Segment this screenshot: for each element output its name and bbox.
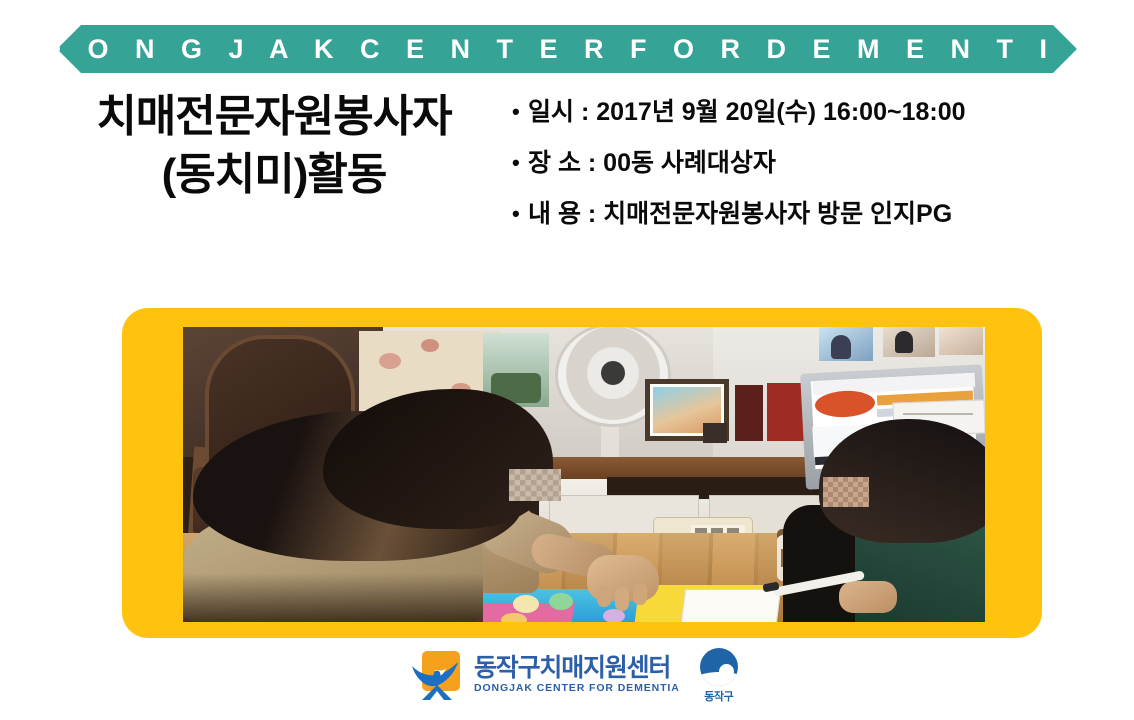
district-emblem: 동작구 bbox=[696, 648, 742, 704]
info-item-place-text: 장 소 : 00동 사례대상자 bbox=[528, 151, 776, 176]
bullet-icon: • bbox=[512, 202, 528, 225]
logo-figure-icon bbox=[410, 650, 464, 702]
photo-picture-frame bbox=[735, 385, 763, 441]
info-item-content: • 내 용 : 치매전문자원봉사자 방문 인지PG bbox=[512, 202, 1102, 227]
photo-elder-finger bbox=[633, 583, 647, 605]
title-line-2: (동치미)활동 bbox=[44, 146, 504, 204]
header-banner: D O N G J A K C E N T E R F O R D E M E … bbox=[57, 25, 1077, 73]
bullet-icon: • bbox=[512, 100, 528, 123]
activity-photo bbox=[183, 327, 985, 622]
emblem-circle-icon bbox=[700, 648, 738, 686]
photo-elder-finger bbox=[597, 585, 611, 607]
info-item-date-text: 일시 : 2017년 9월 20일(수) 16:00~18:00 bbox=[528, 100, 966, 125]
photo-fan-hub bbox=[601, 361, 625, 385]
photo-face-mosaic bbox=[509, 469, 561, 501]
logo-english-name: DONGJAK CENTER FOR DEMENTIA bbox=[474, 681, 680, 697]
emblem-label: 동작구 bbox=[704, 688, 733, 704]
photo-activity-worksheet bbox=[681, 589, 781, 622]
logo-text-block: 동작구치매지원센터 DONGJAK CENTER FOR DEMENTIA bbox=[474, 655, 680, 697]
emblem-wave bbox=[700, 672, 738, 686]
poster-root: D O N G J A K C E N T E R F O R D E M E … bbox=[0, 0, 1134, 720]
event-info-list: • 일시 : 2017년 9월 20일(수) 16:00~18:00 • 장 소… bbox=[512, 100, 1102, 253]
photo-worksheet-icon bbox=[501, 613, 527, 622]
photo-face-mosaic bbox=[823, 477, 869, 507]
photo-participant-hand bbox=[839, 581, 897, 613]
banner-title: D O N G J A K C E N T E R F O R D E M E … bbox=[32, 36, 1101, 63]
info-item-content-text: 내 용 : 치매전문자원봉사자 방문 인지PG bbox=[528, 202, 952, 227]
photo-fabric-flower bbox=[379, 353, 401, 369]
photo-elder-finger bbox=[615, 587, 629, 611]
bullet-icon: • bbox=[512, 151, 528, 174]
footer-logo: 동작구치매지원센터 DONGJAK CENTER FOR DEMENTIA 동작… bbox=[410, 645, 720, 707]
photo-wall-picture-figure bbox=[831, 335, 851, 359]
logo-korean-name: 동작구치매지원센터 bbox=[474, 655, 680, 681]
photo-frame bbox=[122, 308, 1042, 638]
info-item-date: • 일시 : 2017년 9월 20일(수) 16:00~18:00 bbox=[512, 100, 1102, 125]
photo-remote-control bbox=[703, 423, 727, 443]
title-line-1: 치매전문자원봉사자 bbox=[44, 88, 504, 146]
photo-wall-picture bbox=[939, 327, 983, 355]
banner-shape: D O N G J A K C E N T E R F O R D E M E … bbox=[57, 25, 1077, 73]
info-item-place: • 장 소 : 00동 사례대상자 bbox=[512, 151, 1102, 176]
photo-wall-paper-line bbox=[903, 413, 973, 415]
photo-wall-picture-figure bbox=[895, 331, 913, 353]
center-logo-icon bbox=[410, 650, 464, 702]
photo-worksheet-icon bbox=[513, 595, 539, 613]
photo-worksheet-icon bbox=[549, 593, 573, 610]
photo-fabric-flower bbox=[421, 339, 439, 352]
photo-volunteer-shadow bbox=[183, 573, 483, 622]
page-title: 치매전문자원봉사자 (동치미)활동 bbox=[44, 88, 504, 204]
